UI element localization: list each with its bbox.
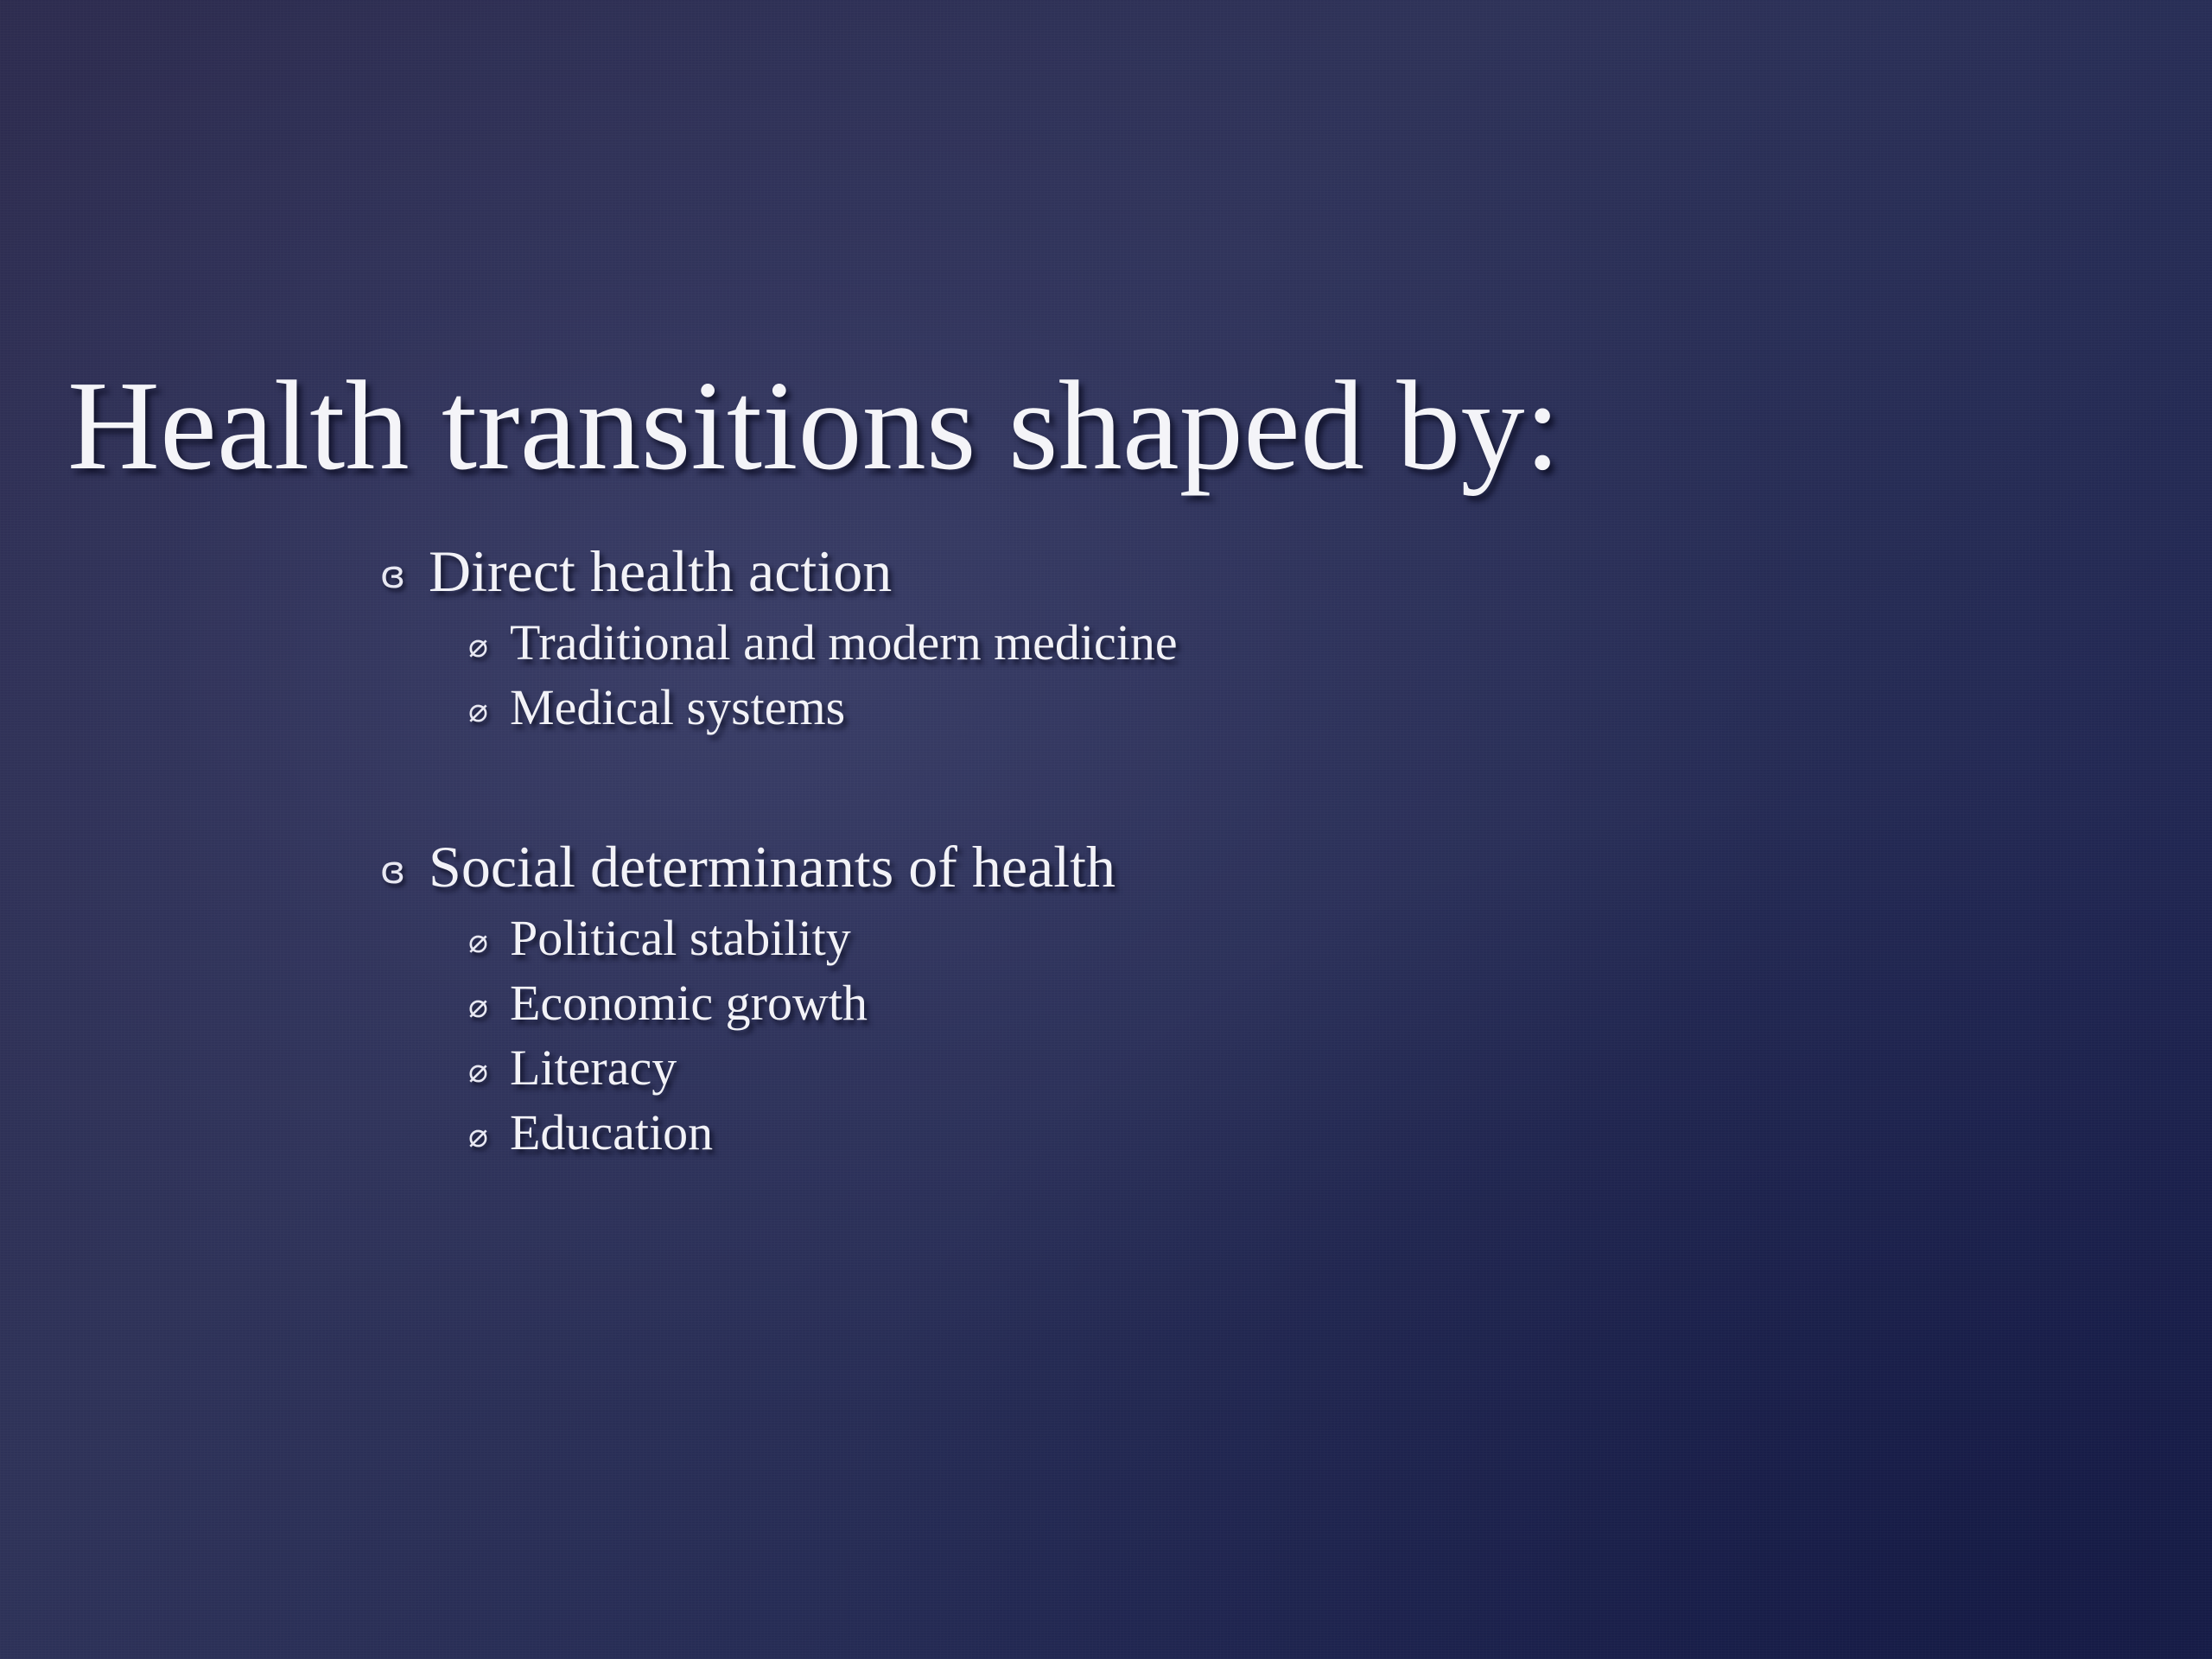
- script-swash-bullet-icon: ɞ: [380, 849, 429, 893]
- slide-content: Health transitions shaped by: ɞ Direct h…: [0, 0, 2212, 1659]
- presentation-slide: Health transitions shaped by: ɞ Direct h…: [0, 0, 2212, 1659]
- bullet-label: Social determinants of health: [429, 831, 1116, 903]
- sub-bullet-label: Political stability: [510, 908, 851, 969]
- sub-bullet-item-traditional-and-modern-medicine: ⌀ Traditional and modern medicine: [0, 613, 2212, 674]
- slashed-circle-bullet-icon: ⌀: [468, 626, 510, 664]
- sub-bullet-item-economic-growth: ⌀ Economic growth: [0, 973, 2212, 1034]
- sub-bullet-label: Economic growth: [510, 973, 868, 1034]
- sub-bullet-item-political-stability: ⌀ Political stability: [0, 908, 2212, 969]
- slashed-circle-bullet-icon: ⌀: [468, 922, 510, 960]
- slashed-circle-bullet-icon: ⌀: [468, 987, 510, 1025]
- slide-title: Health transitions shaped by:: [67, 359, 2141, 494]
- slide-body: ɞ Direct health action ⌀ Traditional and…: [0, 536, 2212, 1166]
- sub-bullet-label: Education: [510, 1103, 713, 1164]
- script-swash-bullet-icon: ɞ: [380, 553, 429, 597]
- sub-bullet-item-medical-systems: ⌀ Medical systems: [0, 677, 2212, 739]
- sub-bullet-item-literacy: ⌀ Literacy: [0, 1038, 2212, 1099]
- sub-bullet-item-education: ⌀ Education: [0, 1103, 2212, 1164]
- bullet-group-direct-health-action: ɞ Direct health action ⌀ Traditional and…: [0, 536, 2212, 738]
- bullet-group-social-determinants-of-health: ɞ Social determinants of health ⌀ Politi…: [0, 831, 2212, 1163]
- slashed-circle-bullet-icon: ⌀: [468, 1116, 510, 1154]
- slashed-circle-bullet-icon: ⌀: [468, 691, 510, 729]
- slashed-circle-bullet-icon: ⌀: [468, 1052, 510, 1090]
- bullet-group-spacer: [0, 741, 2212, 831]
- sub-bullet-label: Literacy: [510, 1038, 677, 1099]
- sub-bullet-label: Medical systems: [510, 677, 845, 739]
- sub-bullet-label: Traditional and modern medicine: [510, 613, 1178, 674]
- bullet-item-direct-health-action: ɞ Direct health action: [0, 536, 2212, 607]
- bullet-label: Direct health action: [429, 536, 892, 607]
- bullet-item-social-determinants-of-health: ɞ Social determinants of health: [0, 831, 2212, 903]
